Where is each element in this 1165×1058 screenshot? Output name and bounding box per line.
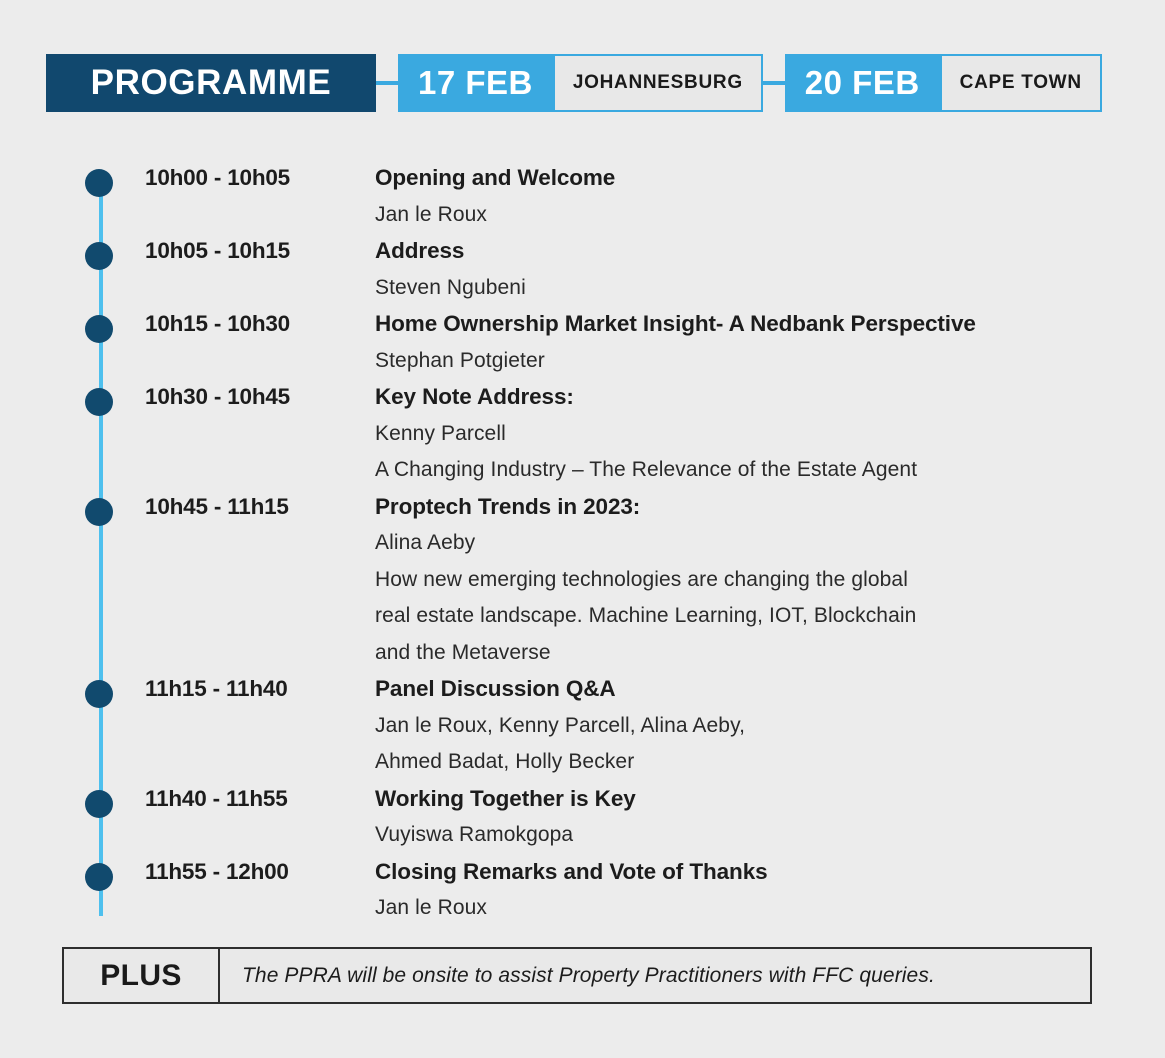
session-title: Opening and Welcome — [375, 160, 1165, 197]
session-detail-line: Jan le Roux — [375, 197, 1165, 234]
session-detail-line: Stephan Potgieter — [375, 343, 1165, 380]
session-title: Panel Discussion Q&A — [375, 671, 1165, 708]
event-date-2: 20 FEB — [785, 54, 940, 112]
timeline-dot-icon — [85, 242, 113, 270]
plus-note-box: PLUS The PPRA will be onsite to assist P… — [62, 947, 1092, 1004]
session-time: 10h45 - 11h15 — [0, 489, 235, 526]
session-details: Opening and Welcome Jan le Roux — [235, 160, 1165, 233]
schedule-row: 10h30 - 10h45 Key Note Address: Kenny Pa… — [0, 379, 1165, 489]
session-time: 10h30 - 10h45 — [0, 379, 235, 416]
session-time: 11h15 - 11h40 — [0, 671, 235, 708]
session-detail-line: A Changing Industry – The Relevance of t… — [375, 452, 1165, 489]
schedule-row: 10h00 - 10h05 Opening and Welcome Jan le… — [0, 160, 1165, 233]
timeline-dot-icon — [85, 863, 113, 891]
session-details: Home Ownership Market Insight- A Nedbank… — [235, 306, 1165, 379]
event-city-2: CAPE TOWN — [940, 54, 1102, 112]
session-title: Address — [375, 233, 1165, 270]
header-connector-2 — [763, 54, 785, 112]
session-details: Panel Discussion Q&A Jan le Roux, Kenny … — [235, 671, 1165, 781]
schedule-row: 11h40 - 11h55 Working Together is Key Vu… — [0, 781, 1165, 854]
session-time: 11h55 - 12h00 — [0, 854, 235, 891]
schedule-row: 11h15 - 11h40 Panel Discussion Q&A Jan l… — [0, 671, 1165, 781]
event-block-2: 20 FEB CAPE TOWN — [785, 54, 1102, 112]
session-title: Key Note Address: — [375, 379, 1165, 416]
session-title: Working Together is Key — [375, 781, 1165, 818]
plus-note-text: The PPRA will be onsite to assist Proper… — [220, 947, 1092, 1004]
session-detail-line: How new emerging technologies are changi… — [375, 562, 1165, 599]
timeline-dot-icon — [85, 680, 113, 708]
session-time: 10h15 - 10h30 — [0, 306, 235, 343]
header-connector-1 — [376, 54, 398, 112]
session-time: 11h40 - 11h55 — [0, 781, 235, 818]
session-details: Address Steven Ngubeni — [235, 233, 1165, 306]
timeline-dot-icon — [85, 315, 113, 343]
schedule-row: 10h15 - 10h30 Home Ownership Market Insi… — [0, 306, 1165, 379]
header-bar: PROGRAMME 17 FEB JOHANNESBURG 20 FEB CAP… — [46, 54, 1102, 112]
timeline-dot-icon — [85, 498, 113, 526]
session-title: Proptech Trends in 2023: — [375, 489, 1165, 526]
schedule-row: 10h45 - 11h15 Proptech Trends in 2023: A… — [0, 489, 1165, 672]
event-block-1: 17 FEB JOHANNESBURG — [398, 54, 763, 112]
timeline-dot-icon — [85, 388, 113, 416]
session-detail-line: Steven Ngubeni — [375, 270, 1165, 307]
session-detail-line: Jan le Roux, Kenny Parcell, Alina Aeby, — [375, 708, 1165, 745]
schedule-row: 10h05 - 10h15 Address Steven Ngubeni — [0, 233, 1165, 306]
schedule-row: 11h55 - 12h00 Closing Remarks and Vote o… — [0, 854, 1165, 927]
session-detail-line: Alina Aeby — [375, 525, 1165, 562]
session-details: Key Note Address: Kenny Parcell A Changi… — [235, 379, 1165, 489]
session-details: Closing Remarks and Vote of Thanks Jan l… — [235, 854, 1165, 927]
session-detail-line: Ahmed Badat, Holly Becker — [375, 744, 1165, 781]
timeline-dot-icon — [85, 169, 113, 197]
session-detail-line: and the Metaverse — [375, 635, 1165, 672]
session-details: Proptech Trends in 2023: Alina Aeby How … — [235, 489, 1165, 672]
schedule-list: 10h00 - 10h05 Opening and Welcome Jan le… — [0, 160, 1165, 927]
session-time: 10h00 - 10h05 — [0, 160, 235, 197]
session-title: Closing Remarks and Vote of Thanks — [375, 854, 1165, 891]
event-city-1: JOHANNESBURG — [553, 54, 763, 112]
session-detail-line: real estate landscape. Machine Learning,… — [375, 598, 1165, 635]
session-details: Working Together is Key Vuyiswa Ramokgop… — [235, 781, 1165, 854]
event-date-1: 17 FEB — [398, 54, 553, 112]
timeline-dot-icon — [85, 790, 113, 818]
session-title: Home Ownership Market Insight- A Nedbank… — [375, 306, 1165, 343]
programme-title: PROGRAMME — [46, 54, 376, 112]
plus-label: PLUS — [62, 947, 220, 1004]
session-detail-line: Jan le Roux — [375, 890, 1165, 927]
session-detail-line: Vuyiswa Ramokgopa — [375, 817, 1165, 854]
session-time: 10h05 - 10h15 — [0, 233, 235, 270]
session-detail-line: Kenny Parcell — [375, 416, 1165, 453]
